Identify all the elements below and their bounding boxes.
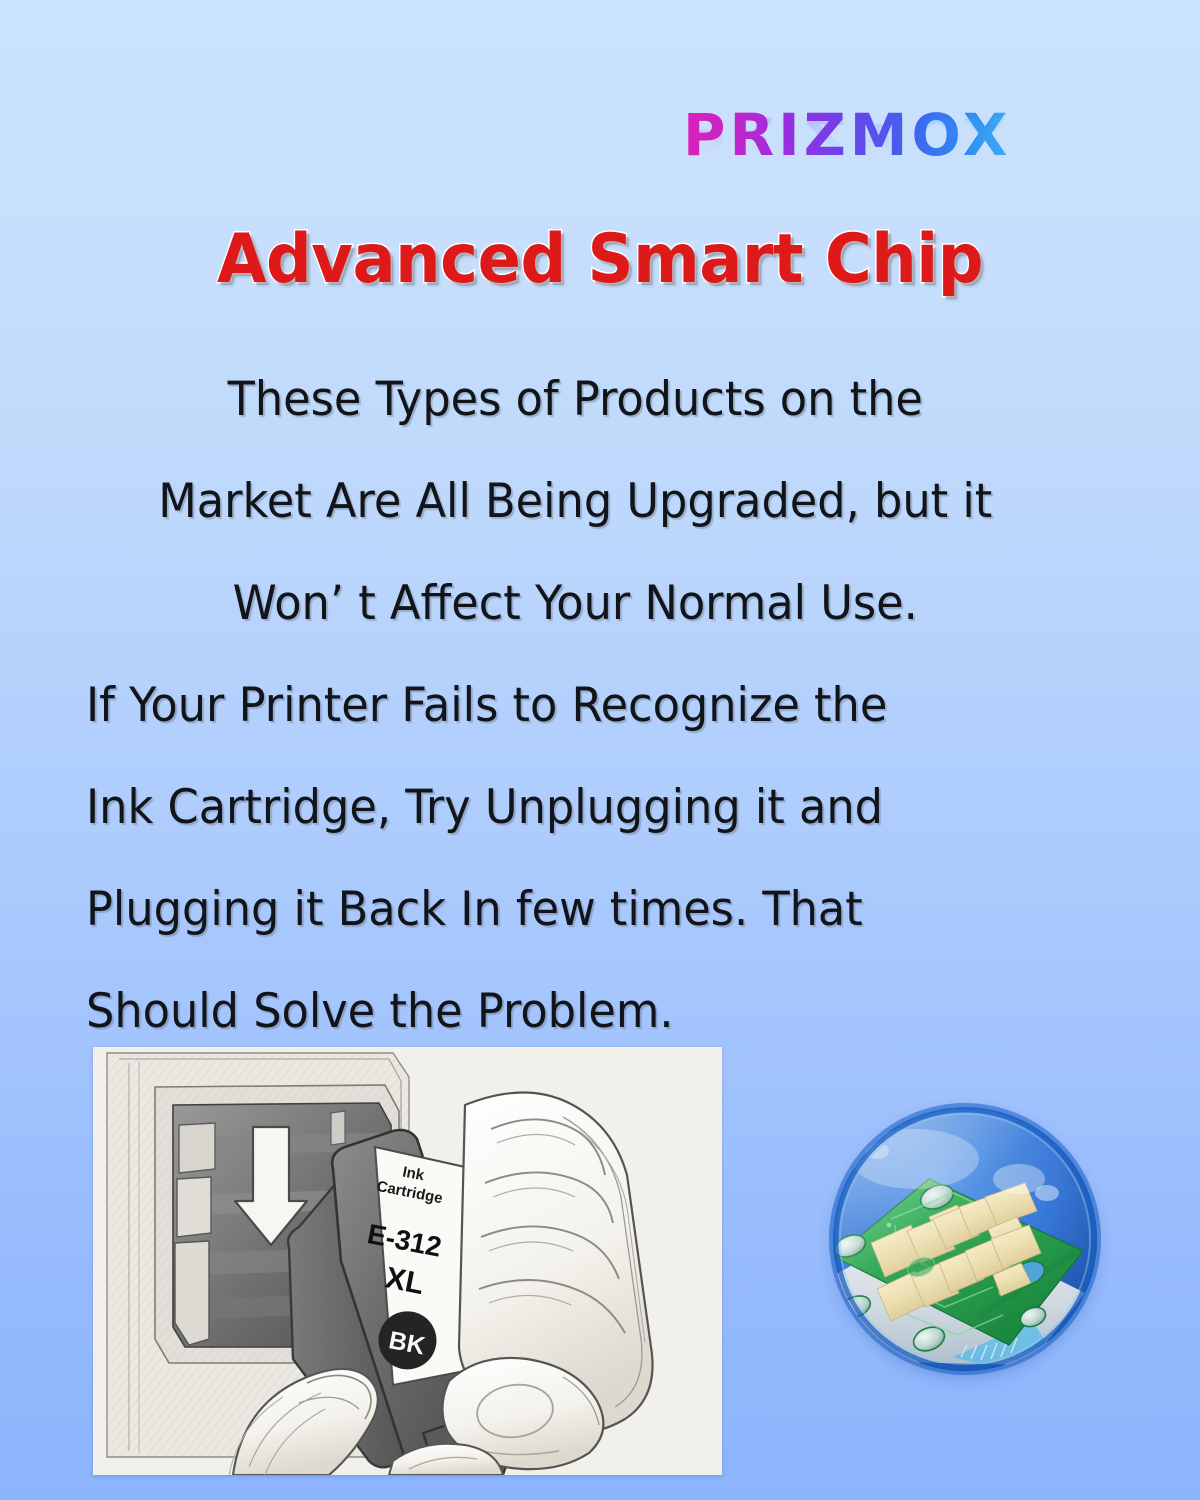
poster-canvas: PRIZMOX PRIZMOX Advanced Smart Chip Thes… [0, 0, 1200, 1500]
body-copy: These Types of Products on the Market Ar… [86, 349, 1065, 1063]
body-line: Won’ t Affect Your Normal Use. [86, 553, 1065, 655]
body-paragraph-2: If Your Printer Fails to Recognize the I… [86, 655, 1065, 1063]
brand-logo: PRIZMOX PRIZMOX [683, 104, 1063, 220]
body-line: If Your Printer Fails to Recognize the [86, 655, 1065, 757]
body-line: These Types of Products on the [86, 349, 1065, 451]
cartridge-installation-sketch: Ink Cartridge E-312 XL BK [93, 1047, 722, 1475]
page-title: Advanced Smart Chip [36, 219, 1164, 301]
smart-chip-photo [833, 1107, 1097, 1371]
body-paragraph-1: These Types of Products on the Market Ar… [86, 349, 1065, 655]
brand-logo-text: PRIZMOX [683, 104, 1063, 166]
body-line: Plugging it Back In few times. That [86, 859, 1065, 961]
body-line: Market Are All Being Upgraded, but it [86, 451, 1065, 553]
body-line: Ink Cartridge, Try Unplugging it and [86, 757, 1065, 859]
